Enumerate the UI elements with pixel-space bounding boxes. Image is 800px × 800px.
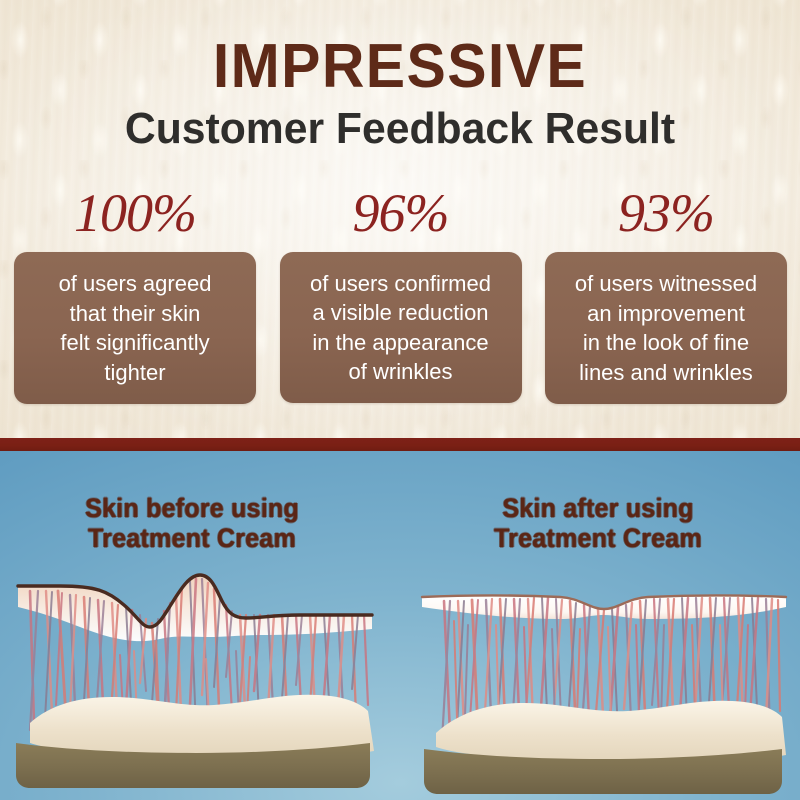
stat-description-box: of users agreed that their skin felt sig… <box>14 252 256 404</box>
stat-card-2: 96% of users confirmed a visible reducti… <box>280 186 522 418</box>
stat-description: of users confirmed a visible reduction i… <box>302 269 499 387</box>
panel-label-before: Skin before using Treatment Cream <box>62 493 322 553</box>
panel-label-after: Skin after using Treatment Cream <box>468 493 728 553</box>
stat-description: of users witnessed an improvement in the… <box>567 269 765 387</box>
stat-percent: 100% <box>74 186 196 240</box>
stat-percent: 96% <box>353 186 449 240</box>
stat-card-1: 100% of users agreed that their skin fel… <box>14 186 256 418</box>
section-divider <box>0 438 800 451</box>
stat-description-box: of users confirmed a visible reduction i… <box>280 252 522 403</box>
skin-diagram-after <box>408 555 800 800</box>
stat-card-3: 93% of users witnessed an improvement in… <box>545 186 787 418</box>
comparison-section: Skin before using Treatment Cream Skin a… <box>0 451 800 800</box>
page-title: IMPRESSIVE <box>20 36 780 98</box>
top-section: IMPRESSIVE Customer Feedback Result 100%… <box>0 0 800 438</box>
stats-row: 100% of users agreed that their skin fel… <box>14 186 787 418</box>
infographic-page: IMPRESSIVE Customer Feedback Result 100%… <box>0 0 800 800</box>
stat-description: of users agreed that their skin felt sig… <box>51 269 220 387</box>
stat-description-box: of users witnessed an improvement in the… <box>545 252 787 404</box>
page-subtitle: Customer Feedback Result <box>12 104 788 154</box>
skin-diagram-before <box>0 555 392 800</box>
stat-percent: 93% <box>618 186 714 240</box>
